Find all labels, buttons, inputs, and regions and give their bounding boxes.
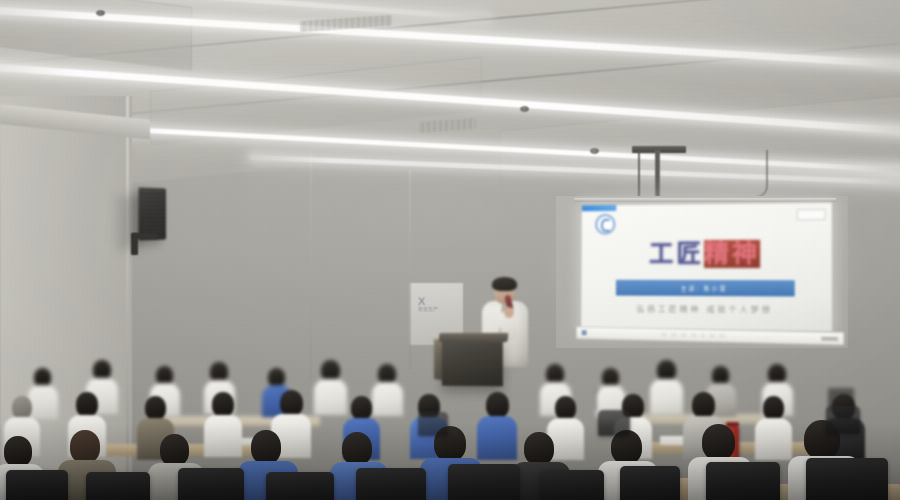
lectern-top [439, 333, 509, 342]
wall-sign-subtext: 安全生产 [418, 308, 444, 313]
speaker-grille-icon [141, 191, 163, 238]
powerpoint-corner-control[interactable] [797, 209, 826, 220]
chair [418, 412, 448, 436]
presenter-hair [492, 277, 517, 291]
smoke-detector-icon [520, 106, 529, 112]
chair [826, 406, 860, 434]
audience [0, 352, 900, 500]
chair [356, 468, 426, 500]
chair [266, 472, 334, 500]
slide-title: 工匠精神 [582, 241, 832, 267]
projection-screen: 工匠精神 主讲: 陈小雯 弘扬工匠精神 成就个人梦想 ▭ ▭ ▭ ▭ ⌕ ▭ ▭ [556, 196, 848, 348]
chair [806, 458, 888, 500]
chair [86, 472, 150, 500]
chair [620, 466, 680, 500]
status-bar-controls[interactable]: ▭ ▭ ▭ ▭ ⌕ ▭ ▭ [662, 331, 727, 338]
presenter-hand [504, 307, 514, 318]
company-logo-icon [595, 214, 615, 235]
screen-top-frame [574, 198, 836, 202]
slide-subtitle: 弘扬工匠精神 成就个人梦想 [581, 303, 832, 316]
slide-title-part-1: 工匠 [649, 240, 704, 268]
slide-presenter-bar: 主讲: 陈小雯 [616, 280, 795, 297]
smoke-detector-icon [590, 148, 599, 154]
chair [598, 410, 630, 436]
speaker-mount-bracket [131, 233, 138, 255]
wall-seam [310, 150, 312, 380]
training-room-photo: X 安全生产 工匠精神 主讲: 陈小雯 弘扬工匠精神 成就个人梦想 [0, 0, 900, 500]
powerpoint-slide[interactable]: 工匠精神 主讲: 陈小雯 弘扬工匠精神 成就个人梦想 [581, 203, 832, 332]
status-bar-zoom-slider[interactable] [821, 336, 838, 340]
powerpoint-titlebar [582, 205, 616, 211]
chair [6, 470, 68, 500]
chair [540, 470, 604, 500]
wall-sign-mark: X 安全生产 [418, 296, 444, 312]
chair [178, 468, 244, 500]
chair [706, 462, 780, 500]
slide-presenter-name: 主讲: 陈小雯 [681, 283, 728, 292]
smoke-detector-icon [96, 10, 105, 16]
status-bar-indicator [582, 330, 587, 335]
chair [448, 464, 520, 500]
slide-title-part-2: 精神 [704, 240, 760, 268]
